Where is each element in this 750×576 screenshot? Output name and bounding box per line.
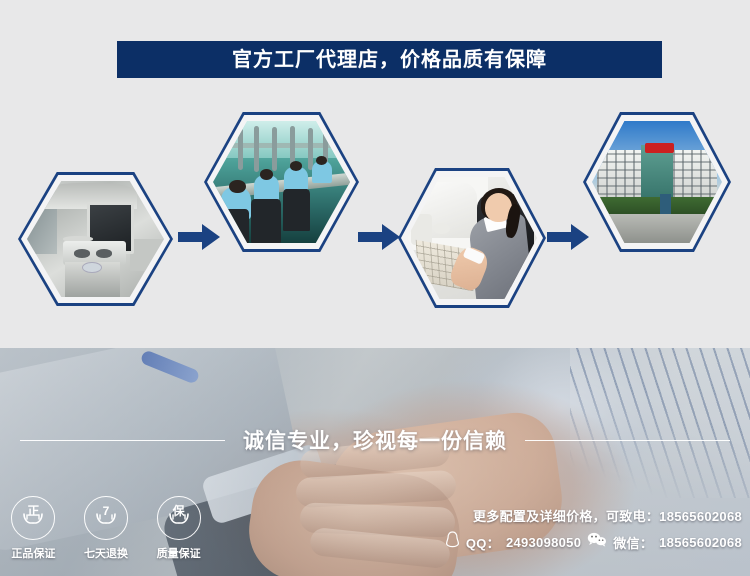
hexagon-photo-clip: [213, 121, 350, 243]
hexagon-photo-clip: [592, 121, 722, 243]
process-step-building: [583, 112, 731, 252]
trust-section: 诚信专业，珍视每一份信赖 正 正品保证: [0, 348, 750, 576]
wechat-number: 18565602068: [659, 535, 742, 550]
seven-day-return-badge-icon: 7: [84, 496, 128, 540]
process-section: 官方工厂代理店，价格品质有保障: [0, 0, 750, 348]
qq-icon: [445, 531, 460, 553]
badge-label: 七天退换: [84, 545, 128, 561]
hands-icon: [12, 512, 54, 530]
slogan-rule-left: [20, 440, 225, 441]
wechat-icon: [587, 532, 607, 552]
quality-guarantee-badge-icon: 保: [157, 496, 201, 540]
contact-im-line: QQ： 2493098050 微信： 18565602068: [445, 531, 742, 553]
hands-icon: [85, 512, 127, 530]
contact-phone-line: 更多配置及详细价格，可致电：18565602068: [473, 506, 742, 525]
badge-quality: 保 质量保证: [151, 496, 206, 566]
badge-authentic: 正 正品保证: [6, 496, 61, 566]
header-banner-text: 官方工厂代理店，价格品质有保障: [232, 50, 547, 70]
slogan-row: 诚信专业，珍视每一份信赖: [0, 424, 750, 456]
header-banner: 官方工厂代理店，价格品质有保障: [117, 41, 662, 78]
hexagon-inner-border: [401, 171, 543, 305]
authentic-badge-icon: 正: [11, 496, 55, 540]
hexagon-photo-clip: [407, 177, 537, 299]
qq-number: 2493098050: [506, 535, 581, 550]
hexagon-inner-border: [207, 115, 356, 249]
process-step-service: [398, 168, 546, 308]
wechat-label: 微信：: [613, 533, 653, 552]
promo-page: 官方工厂代理店，价格品质有保障: [0, 0, 750, 576]
arrow-right-icon: [547, 224, 589, 250]
hexagon-inner-border: [21, 175, 170, 303]
badge-label: 正品保证: [11, 545, 55, 561]
process-step-factory: [204, 112, 359, 252]
hexagon-inner-border: [586, 115, 728, 249]
company-building-photo: [592, 121, 722, 243]
badge-returns: 7 七天退换: [79, 496, 134, 566]
process-step-equipment: [18, 172, 173, 306]
factory-assembly-line-photo: [213, 121, 350, 243]
guarantee-badges: 正 正品保证 7: [6, 496, 206, 566]
slogan-text: 诚信专业，珍视每一份信赖: [243, 425, 507, 455]
customer-service-photo: [407, 177, 537, 299]
hands-icon: [158, 512, 200, 530]
arrow-right-icon: [358, 224, 400, 250]
contact-block: 更多配置及详细价格，可致电：18565602068 QQ： 2493098050: [442, 506, 742, 553]
slogan-rule-right: [525, 440, 730, 441]
ultrasound-machine-photo: [27, 181, 164, 297]
arrow-right-icon: [178, 224, 220, 250]
badge-label: 质量保证: [157, 545, 201, 561]
qq-label: QQ：: [466, 533, 500, 552]
hexagon-photo-clip: [27, 181, 164, 297]
